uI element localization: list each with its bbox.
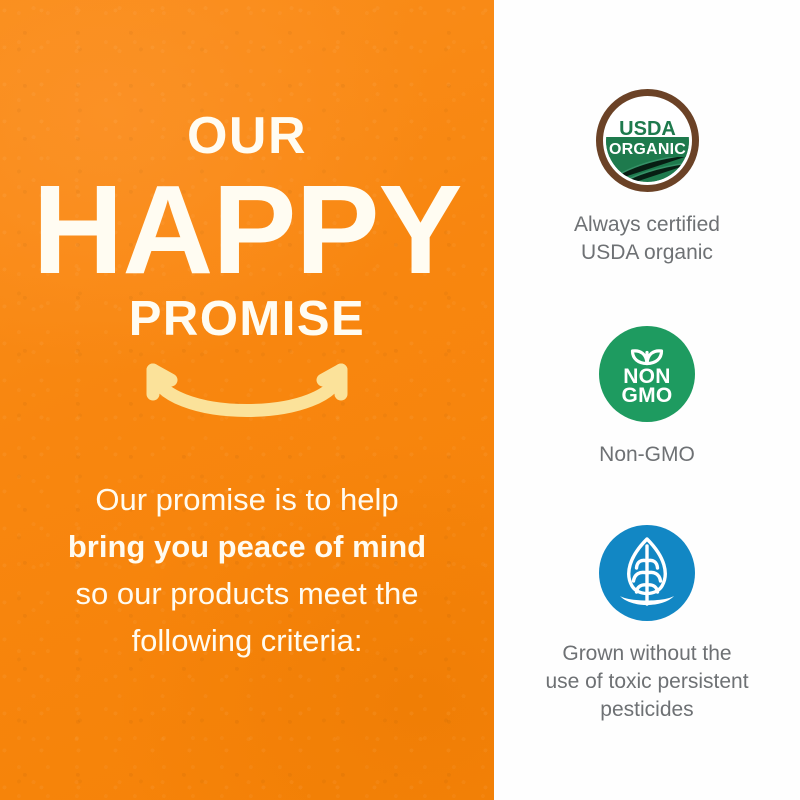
usda-seal-top-text: USDA [619,118,676,140]
usda-organic-seal-icon: USDA ORGANIC [595,88,700,193]
smile-arc-icon [137,360,357,444]
claim-label-line-2: use of toxic persistent [545,668,748,696]
claim-item-pesticide-free: Grown without the use of toxic persisten… [494,524,800,724]
claim-item-non-gmo: NON GMO Non-GMO [494,325,800,469]
happy-promise-card: OUR HAPPY PROMISE Our promise is to help… [0,0,800,800]
promise-body-line-3: so our products meet the [32,570,462,617]
usda-seal-bottom-text: ORGANIC [609,141,686,158]
claims-panel: USDA ORGANIC Always certified USDA organ… [494,0,800,800]
promise-body-line-2: bring you peace of mind [32,523,462,570]
claim-label-line-1: Non-GMO [599,441,695,469]
promise-orange-panel: OUR HAPPY PROMISE Our promise is to help… [0,0,494,800]
claim-label-line-2: USDA organic [574,239,720,267]
promise-body-text: Our promise is to help bring you peace o… [32,476,462,664]
heading-line-our: OUR [0,110,494,162]
claim-label-line-3: pesticides [545,696,748,724]
claim-label-line-1: Grown without the [545,640,748,668]
non-gmo-seal-icon: NON GMO [598,325,696,423]
heading-line-happy: HAPPY [0,168,494,292]
smile-arc-svg [137,360,357,444]
claim-label-usda-organic: Always certified USDA organic [574,211,720,267]
promise-body-line-1: Our promise is to help [32,476,462,523]
heading-line-promise: PROMISE [0,294,494,344]
pesticide-free-leaf-icon [598,524,696,622]
promise-heading: OUR HAPPY PROMISE [0,0,494,344]
non-gmo-seal-bottom-text: GMO [621,384,672,407]
claim-item-usda-organic: USDA ORGANIC Always certified USDA organ… [494,88,800,267]
claim-label-non-gmo: Non-GMO [599,441,695,469]
promise-body-line-4: following criteria: [32,617,462,664]
claim-label-pesticide-free: Grown without the use of toxic persisten… [545,640,748,724]
claim-label-line-1: Always certified [574,211,720,239]
